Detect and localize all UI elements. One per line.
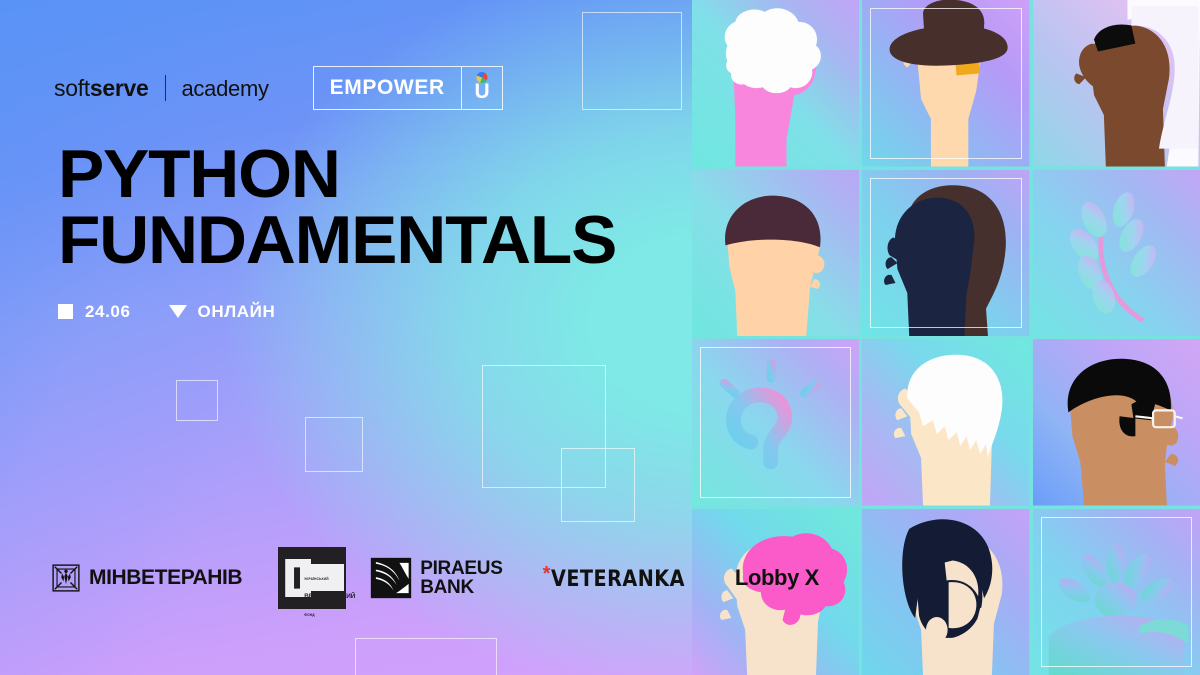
- empower-label: EMPOWER: [314, 67, 461, 109]
- piraeus-line-2: BANK: [420, 577, 474, 598]
- portrait-cell-3: [1033, 0, 1200, 167]
- decor-square-3: [305, 417, 363, 472]
- partner-piraeus-label: PIRAEUS BANK: [420, 559, 502, 598]
- ministry-emblem-icon: [52, 564, 80, 592]
- partner-minveteraniv-label: МІНВЕТЕРАНІВ: [89, 566, 242, 590]
- softserve-serve-text: serve: [90, 75, 149, 102]
- portrait-cell-8: [862, 339, 1029, 506]
- logo-divider: [165, 75, 166, 101]
- academy-text: academy: [182, 76, 269, 102]
- portrait-cell-11: [862, 509, 1029, 675]
- decor-square-5: [561, 448, 635, 522]
- uvf-line-1: УКРАЇНСЬКИЙ: [304, 577, 329, 581]
- uvf-text-plate: УКРАЇНСЬКИЙ ВЕТЕРАНСЬКИЙ ФОНД: [300, 564, 344, 591]
- portrait-cell-1: [692, 0, 859, 167]
- piraeus-line-1: PIRAEUS: [420, 558, 502, 579]
- event-format-label: ОНЛАЙН: [198, 302, 276, 322]
- piraeus-mark-icon: [370, 557, 412, 599]
- header-logos: softserve academy EMPOWER U: [54, 66, 503, 110]
- uvf-logo-icon: УКРАЇНСЬКИЙ ВЕТЕРАНСЬКИЙ ФОНД: [278, 547, 346, 609]
- softserve-academy-logo: softserve academy: [54, 75, 269, 102]
- partner-piraeus-bank: PIRAEUS BANK: [370, 557, 502, 599]
- event-date: 24.06: [58, 302, 131, 322]
- veteranka-accent-dot-icon: *: [543, 564, 551, 584]
- partner-veteranka: * VETERANKA: [543, 566, 691, 590]
- portrait-cell-9: [1033, 339, 1200, 506]
- decor-square-1: [582, 12, 682, 110]
- partner-logos-row: МІНВЕТЕРАНІВ УКРАЇНСЬКИЙ ВЕТЕРАНСЬКИЙ ФО…: [52, 548, 819, 608]
- empower-u-badge: EMPOWER U: [313, 66, 503, 110]
- event-date-label: 24.06: [85, 302, 131, 322]
- event-meta-row: 24.06 ОНЛАЙН: [58, 302, 605, 322]
- partner-minveteraniv: МІНВЕТЕРАНІВ: [52, 564, 242, 592]
- empower-u-letter-wrap: U: [462, 67, 502, 109]
- portrait-cell-12: [1033, 509, 1200, 675]
- portrait-cell-2: [862, 0, 1029, 167]
- portrait-cell-6: [1033, 170, 1200, 337]
- decor-square-2: [176, 380, 218, 421]
- decor-square-6: [355, 638, 497, 675]
- softserve-soft-text: soft: [54, 75, 90, 102]
- partner-lobby-x: Lobby X: [735, 565, 819, 591]
- partner-ukrainian-veterans-fund: УКРАЇНСЬКИЙ ВЕТЕРАНСЬКИЙ ФОНД: [278, 547, 346, 609]
- uvf-line-2: ВЕТЕРАНСЬКИЙ: [304, 593, 355, 600]
- portrait-cell-7: [692, 339, 859, 506]
- event-format: ОНЛАЙН: [169, 302, 276, 322]
- promo-banner: softserve academy EMPOWER U PYTHON FUNDA…: [0, 0, 1200, 675]
- triangle-down-icon: [169, 305, 187, 318]
- course-title-line-2: FUNDAMENTALS: [58, 208, 616, 274]
- partner-veteranka-label: VETERANKA: [551, 565, 685, 592]
- empower-u-letter: U: [475, 80, 490, 104]
- portrait-cell-4: [692, 170, 859, 337]
- course-title-line-1: PYTHON: [58, 142, 616, 208]
- portrait-cell-5: [862, 170, 1029, 337]
- partner-lobby-x-label: Lobby X: [735, 565, 819, 591]
- uvf-line-3: ФОНД: [304, 613, 315, 617]
- square-icon: [58, 304, 73, 319]
- multicolor-pie-icon: [477, 72, 488, 83]
- title-block: PYTHON FUNDAMENTALS 24.06 ОНЛАЙН: [58, 142, 605, 322]
